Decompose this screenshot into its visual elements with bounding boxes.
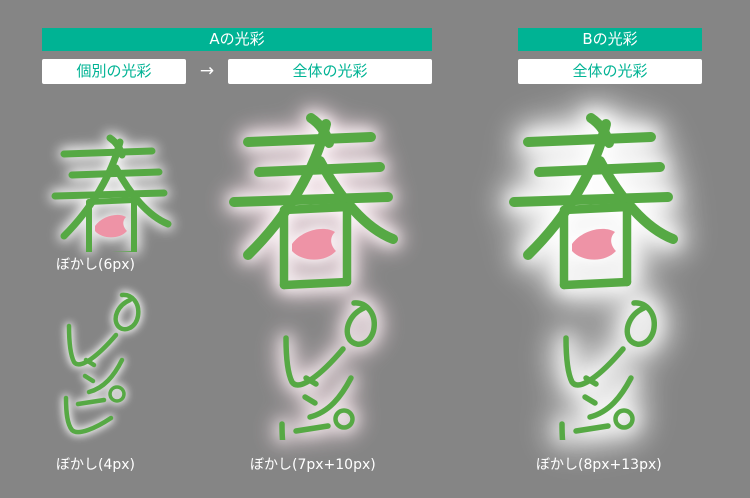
group-b-step-1-label: 全体の光彩 bbox=[572, 62, 647, 80]
sakura-petal-icon bbox=[292, 229, 336, 260]
glow-comparison-canvas: Aの光彩 個別の光彩 → 全体の光彩 Bの光彩 全体の光彩 bbox=[0, 0, 750, 498]
group-b-title: Bの光彩 bbox=[582, 30, 637, 48]
group-a-step-1-label: 個別の光彩 bbox=[76, 62, 151, 80]
caption-col-b-bottom: ぼかし(7px+10px) bbox=[250, 456, 376, 474]
arrow-right-icon: → bbox=[190, 59, 224, 84]
artwork-col-b bbox=[216, 100, 446, 440]
group-a-title: Aの光彩 bbox=[209, 30, 264, 48]
group-a-step-2-chip[interactable]: 全体の光彩 bbox=[228, 59, 432, 84]
artwork-col-c bbox=[496, 100, 726, 440]
group-a-title-bar: Aの光彩 bbox=[42, 28, 432, 51]
group-b-title-bar: Bの光彩 bbox=[518, 28, 702, 51]
sakura-petal-icon bbox=[95, 215, 127, 238]
kanji-artwork-col-a bbox=[42, 112, 192, 252]
caption-col-a-bottom: ぼかし(4px) bbox=[56, 456, 135, 474]
caption-col-c-bottom: ぼかし(8px+13px) bbox=[536, 456, 662, 474]
sakura-petal-icon bbox=[572, 229, 616, 260]
group-a-step-2-label: 全体の光彩 bbox=[292, 62, 367, 80]
group-b-step-1-chip[interactable]: 全体の光彩 bbox=[518, 59, 702, 84]
group-a-step-1-chip[interactable]: 個別の光彩 bbox=[42, 59, 186, 84]
vertical-text-artwork-col-a bbox=[56, 278, 166, 438]
caption-col-a-kanji: ぼかし(6px) bbox=[56, 256, 135, 274]
